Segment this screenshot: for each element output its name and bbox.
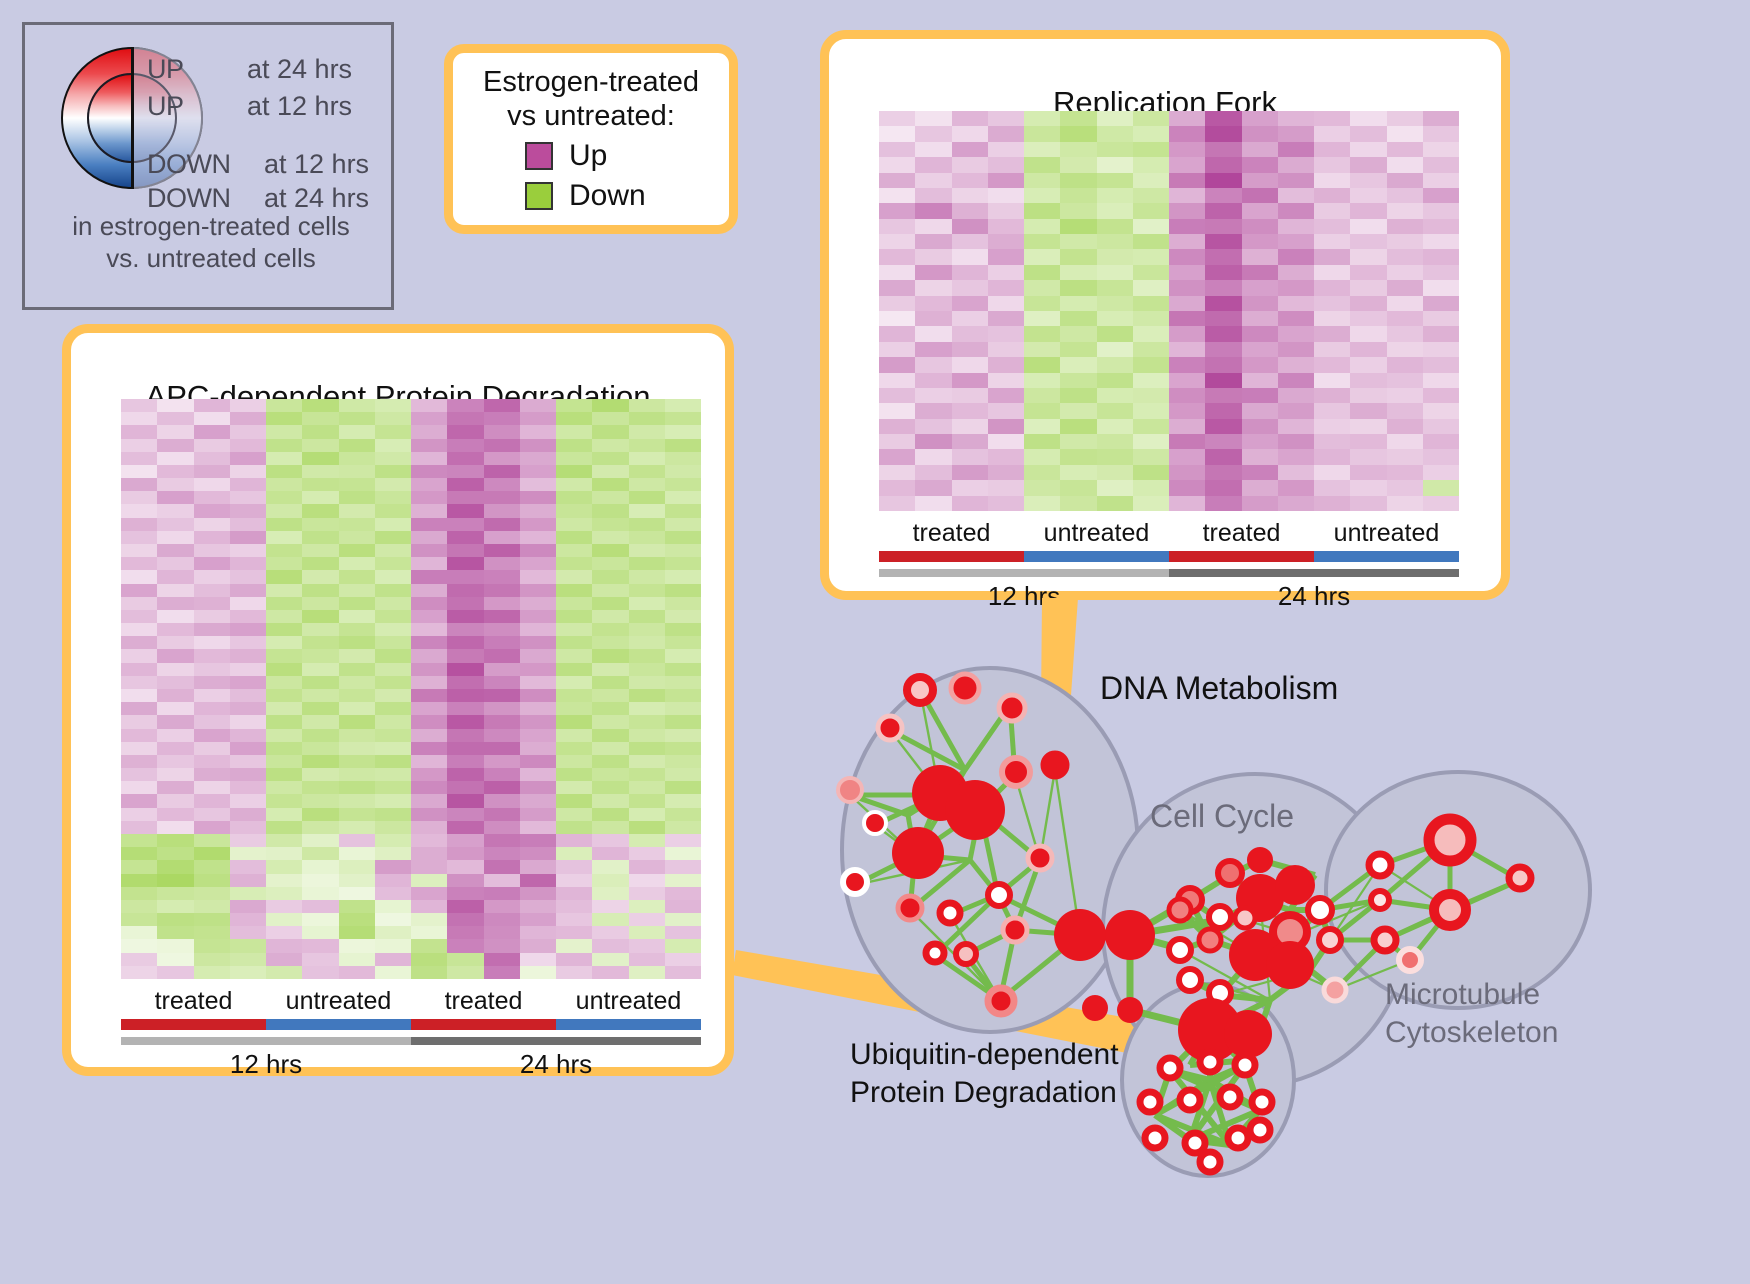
heatmap-cell [266, 715, 302, 728]
heatmap-cell [411, 649, 447, 662]
heatmap-cell [665, 913, 701, 926]
heatmap-cell [121, 663, 157, 676]
heatmap-cell [520, 794, 556, 807]
heatmap-cell [1169, 465, 1205, 480]
heatmap-cell [1350, 388, 1386, 403]
heatmap-cell [411, 425, 447, 438]
heatmap-cell [230, 425, 266, 438]
heatmap-cell [375, 847, 411, 860]
heatmap-cell [266, 939, 302, 952]
heatmap-cell [879, 357, 915, 372]
heatmap-cell [411, 584, 447, 597]
heatmap-cell [1314, 219, 1350, 234]
heatmap-cell [592, 742, 628, 755]
heatmap-cell [121, 755, 157, 768]
heatmap-cell [484, 636, 520, 649]
heatmap-cell [411, 939, 447, 952]
heatmap-cell [411, 702, 447, 715]
heatmap-cell [411, 663, 447, 676]
heatmap-cell [665, 518, 701, 531]
replication-fork-condition-labels: treateduntreatedtreateduntreated [879, 519, 1459, 548]
heatmap-cell [1278, 280, 1314, 295]
heatmap-cell [302, 557, 338, 570]
heatmap-cell [484, 702, 520, 715]
heatmap-cell [157, 478, 193, 491]
heatmap-cell [1278, 388, 1314, 403]
heatmap-cell [879, 480, 915, 495]
heatmap-cell [484, 544, 520, 557]
heatmap-cell [339, 610, 375, 623]
heatmap-cell [157, 399, 193, 412]
heatmap-cell [952, 203, 988, 218]
heatmap-cell [520, 755, 556, 768]
heatmap-cell [375, 584, 411, 597]
heatmap-cell [447, 465, 483, 478]
heatmap-cell [447, 887, 483, 900]
heatmap-cell [1024, 357, 1060, 372]
heatmap-cell [629, 742, 665, 755]
heatmap-cell [157, 900, 193, 913]
heatmap-cell [411, 518, 447, 531]
heatmap-cell [1314, 157, 1350, 172]
heatmap-cell [1024, 480, 1060, 495]
heatmap-cell [302, 439, 338, 452]
heatmap-cell [157, 491, 193, 504]
heatmap-cell [1350, 219, 1386, 234]
heatmap-cell [1024, 496, 1060, 511]
heatmap-cell [665, 557, 701, 570]
heatmap-cell [1097, 465, 1133, 480]
heatmap-cell [121, 557, 157, 570]
heatmap-cell [1205, 126, 1241, 141]
heatmap-cell [1060, 280, 1096, 295]
heatmap-cell [447, 636, 483, 649]
heatmap-cell [520, 821, 556, 834]
heatmap-cell [411, 768, 447, 781]
heatmap-cell [988, 126, 1024, 141]
heatmap-cell [230, 953, 266, 966]
heatmap-cell [556, 544, 592, 557]
heatmap-cell [879, 173, 915, 188]
heatmap-cell [121, 900, 157, 913]
heatmap-cell [157, 821, 193, 834]
heatmap-cell [1423, 496, 1459, 511]
heatmap-cell [1133, 173, 1169, 188]
heatmap-cell [592, 570, 628, 583]
heatmap-cell [484, 913, 520, 926]
heatmap-cell [302, 715, 338, 728]
heatmap-cell [339, 399, 375, 412]
heatmap-cell [988, 296, 1024, 311]
heatmap-cell [339, 412, 375, 425]
heatmap-cell [1423, 373, 1459, 388]
heatmap-cell [157, 412, 193, 425]
heatmap-cell [1387, 157, 1423, 172]
heatmap-cell [915, 449, 951, 464]
heatmap-cell [592, 425, 628, 438]
heatmap-cell [339, 518, 375, 531]
heatmap-cell [1024, 188, 1060, 203]
heatmap-cell [1133, 142, 1169, 157]
heatmap-cell [915, 157, 951, 172]
heatmap-cell [556, 584, 592, 597]
heatmap-cell [1024, 219, 1060, 234]
cluster-label-ubiquitin-line2: Protein Degradation [850, 1076, 1117, 1110]
heatmap-cell [447, 663, 483, 676]
heatmap-cell [1097, 142, 1133, 157]
heatmap-cell [339, 425, 375, 438]
heatmap-cell [484, 597, 520, 610]
heatmap-cell [411, 808, 447, 821]
heatmap-cell [1133, 234, 1169, 249]
heatmap-cell [1205, 234, 1241, 249]
heatmap-cell [121, 465, 157, 478]
heatmap-cell [411, 623, 447, 636]
heatmap-cell [230, 794, 266, 807]
heatmap-cell [592, 715, 628, 728]
heatmap-cell [121, 715, 157, 728]
key-row-down: Down [525, 179, 646, 213]
heatmap-cell [629, 808, 665, 821]
heatmap-cell [1242, 249, 1278, 264]
heatmap-cell [1242, 280, 1278, 295]
heatmap-cell [1278, 157, 1314, 172]
heatmap-cell [230, 834, 266, 847]
heatmap-cell [915, 219, 951, 234]
heatmap-cell [1423, 434, 1459, 449]
heatmap-cell [592, 821, 628, 834]
heatmap-cell [1024, 311, 1060, 326]
heatmap-cell [592, 531, 628, 544]
heatmap-cell [1314, 111, 1350, 126]
heatmap-cell [230, 518, 266, 531]
heatmap-cell [629, 926, 665, 939]
heatmap-cell [665, 715, 701, 728]
heatmap-cell [121, 623, 157, 636]
heatmap-cell [230, 465, 266, 478]
heatmap-cell [157, 623, 193, 636]
heatmap-cell [339, 926, 375, 939]
heatmap-cell [1242, 203, 1278, 218]
heatmap-cell [952, 265, 988, 280]
heatmap-cell [1387, 219, 1423, 234]
heatmap-cell [1387, 234, 1423, 249]
heatmap-cell [157, 755, 193, 768]
heatmap-cell [411, 491, 447, 504]
heatmap-cell [1205, 111, 1241, 126]
heatmap-cell [447, 570, 483, 583]
heatmap-cell [556, 729, 592, 742]
heatmap-cell [194, 425, 230, 438]
heatmap-cell [1133, 265, 1169, 280]
heatmap-cell [230, 821, 266, 834]
heatmap-cell [988, 280, 1024, 295]
heatmap-cell [121, 781, 157, 794]
heatmap-cell [484, 504, 520, 517]
heatmap-cell [447, 399, 483, 412]
heatmap-cell [1314, 142, 1350, 157]
heatmap-cell [339, 729, 375, 742]
heatmap-cell [484, 557, 520, 570]
heatmap-cell [121, 452, 157, 465]
heatmap-cell [520, 597, 556, 610]
heatmap-cell [556, 439, 592, 452]
heatmap-cell [447, 729, 483, 742]
heatmap-cell [556, 518, 592, 531]
heatmap-cell [1314, 203, 1350, 218]
heatmap-cell [592, 768, 628, 781]
heatmap-cell [375, 926, 411, 939]
heatmap-cell [629, 663, 665, 676]
heatmap-cell [121, 808, 157, 821]
heatmap-cell [484, 531, 520, 544]
heatmap-cell [1097, 496, 1133, 511]
heatmap-cell [1133, 480, 1169, 495]
heatmap-cell [339, 781, 375, 794]
heatmap-cell [1314, 296, 1350, 311]
heatmap-cell [1205, 373, 1241, 388]
heatmap-cell [988, 449, 1024, 464]
heatmap-cell [520, 742, 556, 755]
heatmap-cell [194, 715, 230, 728]
heatmap-cell [592, 860, 628, 873]
heatmap-cell [157, 649, 193, 662]
heatmap-cell [121, 953, 157, 966]
heatmap-cell [266, 531, 302, 544]
heatmap-cell [629, 729, 665, 742]
heatmap-cell [339, 702, 375, 715]
heatmap-cell [121, 860, 157, 873]
heatmap-cell [302, 926, 338, 939]
heatmap-cell [1314, 388, 1350, 403]
heatmap-cell [194, 649, 230, 662]
heatmap-cell [665, 926, 701, 939]
heatmap-cell [952, 373, 988, 388]
heatmap-cell [520, 847, 556, 860]
heatmap-cell [266, 953, 302, 966]
heatmap-cell [266, 439, 302, 452]
heatmap-cell [879, 265, 915, 280]
heatmap-cell [915, 496, 951, 511]
heatmap-cell [339, 794, 375, 807]
heatmap-cell [194, 913, 230, 926]
heatmap-cell [339, 874, 375, 887]
heatmap-cell [375, 544, 411, 557]
heatmap-cell [194, 623, 230, 636]
condition-bar [1169, 551, 1314, 562]
heatmap-cell [879, 373, 915, 388]
heatmap-cell [447, 478, 483, 491]
heatmap-cell [1350, 126, 1386, 141]
heatmap-cell [592, 755, 628, 768]
heatmap-cell [230, 636, 266, 649]
heatmap-cell [1350, 142, 1386, 157]
heatmap-cell [1133, 449, 1169, 464]
heatmap-cell [1423, 265, 1459, 280]
heatmap-cell [375, 821, 411, 834]
heatmap-cell [988, 234, 1024, 249]
heatmap-cell [302, 887, 338, 900]
heatmap-cell [1097, 219, 1133, 234]
heatmap-cell [157, 636, 193, 649]
heatmap-cell [157, 808, 193, 821]
heatmap-cell [194, 729, 230, 742]
heatmap-cell [1350, 188, 1386, 203]
heatmap-cell [879, 234, 915, 249]
heatmap-cell [879, 434, 915, 449]
heatmap-cell [194, 518, 230, 531]
heatmap-cell [592, 636, 628, 649]
heatmap-cell [121, 742, 157, 755]
heatmap-cell [1242, 357, 1278, 372]
heatmap-cell [194, 557, 230, 570]
heatmap-cell [1314, 265, 1350, 280]
heatmap-cell [121, 636, 157, 649]
heatmap-cell [157, 702, 193, 715]
heatmap-cell [1060, 126, 1096, 141]
heatmap-cell [447, 874, 483, 887]
heatmap-cell [339, 636, 375, 649]
time-label: 12 hrs [121, 1049, 411, 1080]
condition-label: untreated [1024, 519, 1169, 548]
heatmap-cell [1423, 419, 1459, 434]
heatmap-cell [157, 504, 193, 517]
heatmap-cell [1169, 480, 1205, 495]
heatmap-cell [915, 480, 951, 495]
heatmap-cell [1278, 357, 1314, 372]
heatmap-cell [592, 808, 628, 821]
heatmap-cell [592, 689, 628, 702]
heatmap-cell [194, 689, 230, 702]
heatmap-cell [1097, 419, 1133, 434]
heatmap-cell [520, 610, 556, 623]
colorwheel-legend-box: UP at 24 hrs UP at 12 hrs DOWN at 12 hrs… [22, 22, 394, 310]
heatmap-cell [592, 478, 628, 491]
heatmap-cell [194, 399, 230, 412]
heatmap-cell [1205, 496, 1241, 511]
heatmap-cell [556, 610, 592, 623]
heatmap-cell [194, 610, 230, 623]
heatmap-cell [302, 412, 338, 425]
heatmap-cell [879, 388, 915, 403]
heatmap-cell [520, 649, 556, 662]
heatmap-cell [1097, 480, 1133, 495]
heatmap-cell [375, 439, 411, 452]
heatmap-cell [1024, 296, 1060, 311]
heatmap-cell [1060, 249, 1096, 264]
heatmap-cell [520, 425, 556, 438]
heatmap-cell [665, 623, 701, 636]
heatmap-cell [266, 491, 302, 504]
heatmap-cell [665, 676, 701, 689]
heatmap-cell [1423, 142, 1459, 157]
heatmap-cell [1387, 449, 1423, 464]
heatmap-cell [447, 518, 483, 531]
heatmap-cell [1314, 342, 1350, 357]
heatmap-cell [339, 939, 375, 952]
heatmap-cell [1242, 311, 1278, 326]
heatmap-cell [411, 953, 447, 966]
heatmap-cell [339, 887, 375, 900]
heatmap-cell [1169, 311, 1205, 326]
heatmap-cell [665, 597, 701, 610]
heatmap-cell [592, 518, 628, 531]
heatmap-cell [915, 465, 951, 480]
heatmap-cell [447, 808, 483, 821]
heatmap-cell [447, 742, 483, 755]
heatmap-cell [266, 676, 302, 689]
heatmap-cell [157, 452, 193, 465]
heatmap-cell [194, 834, 230, 847]
heatmap-cell [1278, 249, 1314, 264]
heatmap-cell [1387, 296, 1423, 311]
heatmap-cell [1387, 326, 1423, 341]
heatmap-cell [629, 623, 665, 636]
heatmap-cell [915, 388, 951, 403]
heatmap-cell [266, 926, 302, 939]
heatmap-cell [194, 465, 230, 478]
heatmap-cell [1387, 480, 1423, 495]
apc-condition-bars [121, 1019, 701, 1030]
heatmap-cell [952, 434, 988, 449]
heatmap-cell [1350, 357, 1386, 372]
heatmap-cell [1133, 434, 1169, 449]
heatmap-cell [665, 768, 701, 781]
heatmap-cell [411, 465, 447, 478]
heatmap-cell [1242, 219, 1278, 234]
heatmap-cell [665, 887, 701, 900]
heatmap-cell [230, 452, 266, 465]
heatmap-cell [121, 729, 157, 742]
network-svg [790, 610, 1750, 1279]
heatmap-cell [988, 311, 1024, 326]
heatmap-cell [375, 939, 411, 952]
heatmap-cell [121, 966, 157, 979]
cluster-halo-microtubule [1326, 772, 1590, 1008]
wheel-label-up-24: UP [147, 54, 184, 85]
condition-bar [556, 1019, 701, 1030]
heatmap-cell [1314, 434, 1350, 449]
heatmap-cell [447, 900, 483, 913]
heatmap-cell [194, 860, 230, 873]
heatmap-cell [375, 597, 411, 610]
heatmap-cell [121, 676, 157, 689]
heatmap-cell [302, 531, 338, 544]
heatmap-cell [1423, 203, 1459, 218]
heatmap-cell [988, 419, 1024, 434]
heatmap-cell [665, 544, 701, 557]
heatmap-cell [592, 966, 628, 979]
heatmap-cell [1242, 480, 1278, 495]
heatmap-cell [879, 496, 915, 511]
heatmap-cell [915, 342, 951, 357]
heatmap-cell [411, 926, 447, 939]
heatmap-cell [157, 847, 193, 860]
heatmap-cell [520, 439, 556, 452]
heatmap-cell [629, 821, 665, 834]
heatmap-cell [988, 357, 1024, 372]
heatmap-cell [556, 465, 592, 478]
heatmap-cell [339, 676, 375, 689]
heatmap-cell [302, 913, 338, 926]
heatmap-cell [484, 742, 520, 755]
condition-bar [1314, 551, 1459, 562]
heatmap-cell [988, 342, 1024, 357]
heatmap-cell [1278, 434, 1314, 449]
heatmap-cell [447, 504, 483, 517]
heatmap-cell [194, 966, 230, 979]
heatmap-cell [915, 326, 951, 341]
